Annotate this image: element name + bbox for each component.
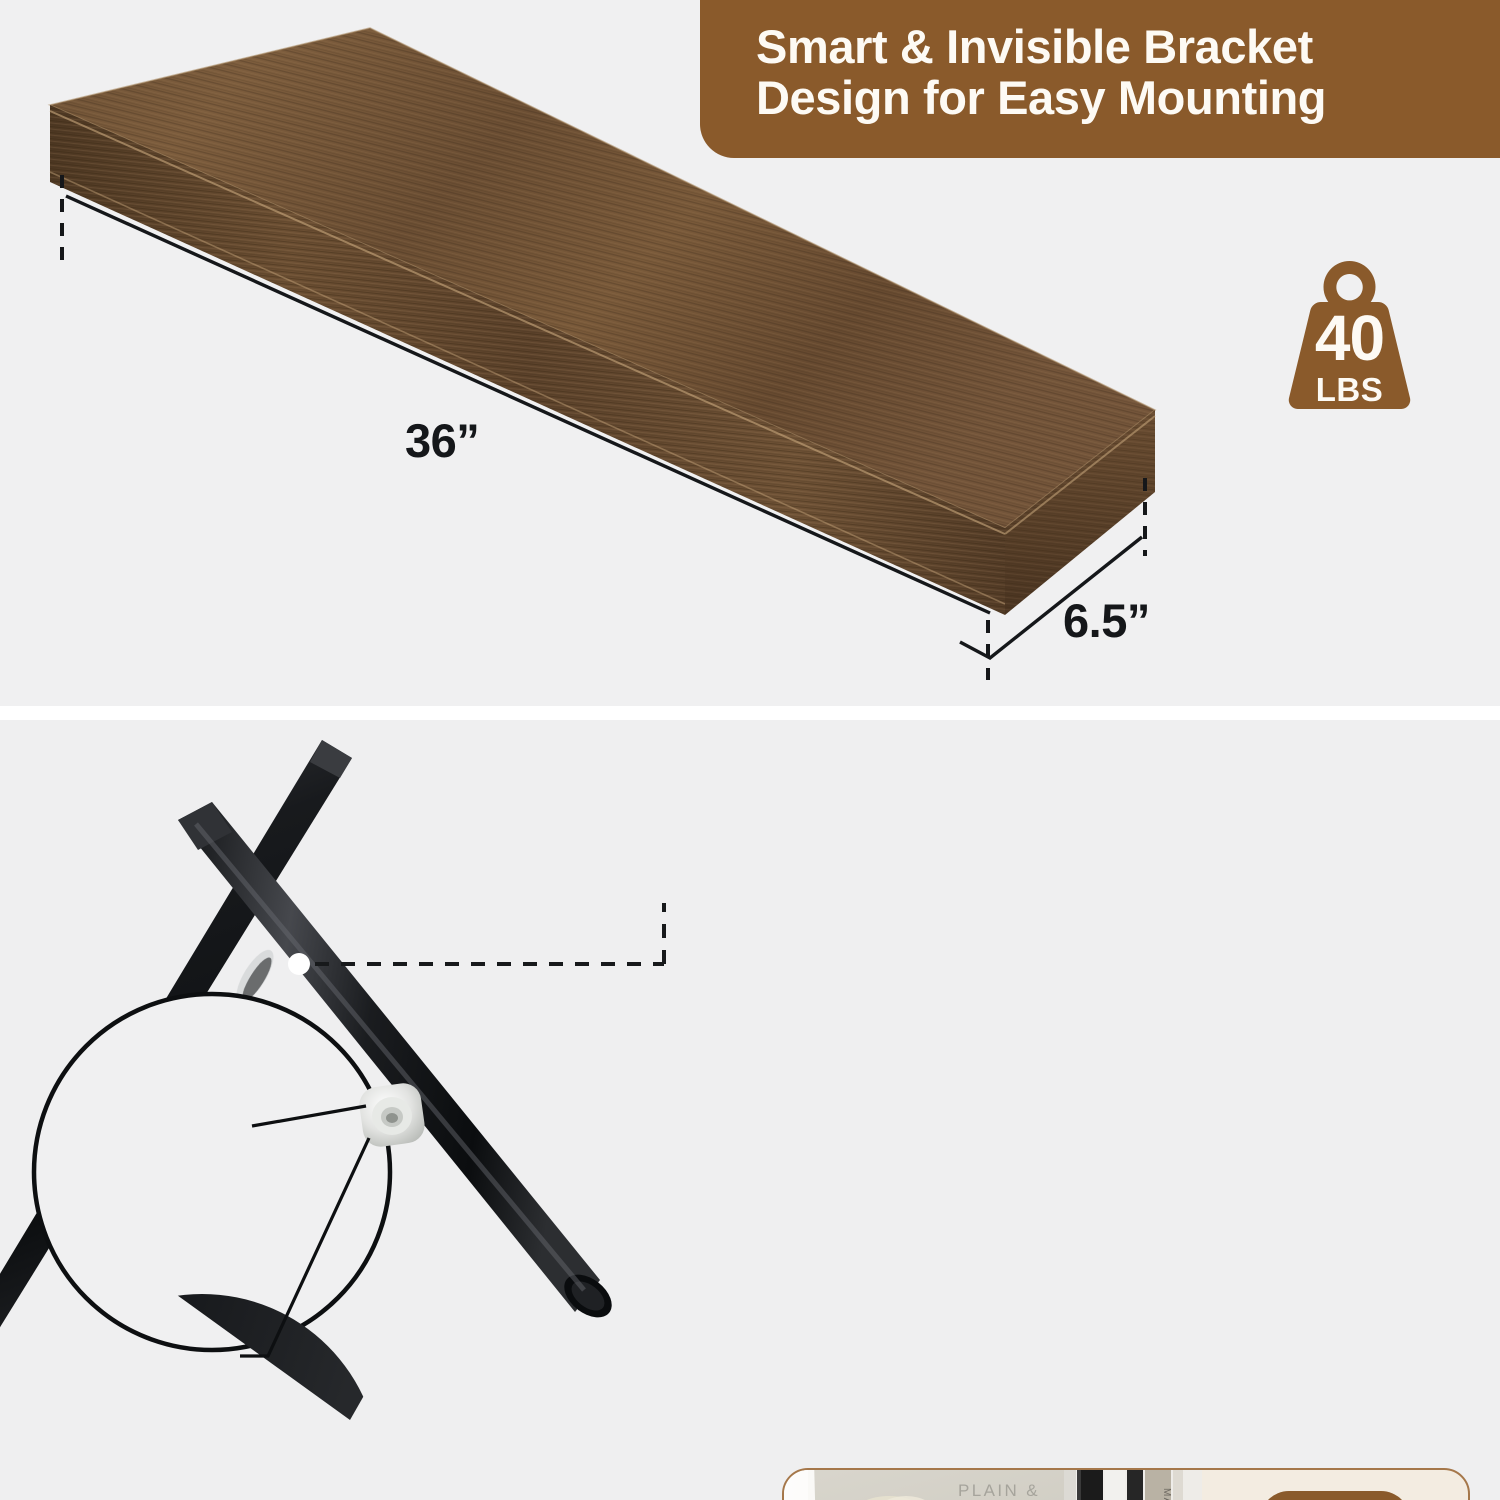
leader-line-military xyxy=(315,903,664,964)
ours-book-title-1: PLAIN & xyxy=(958,1481,1040,1500)
comparison-card-ours: PLAIN & SIMPLE KIM BRENNEMAN NO REST FOR… xyxy=(782,1468,1470,1500)
section-divider xyxy=(0,706,1500,720)
ours-scene: PLAIN & SIMPLE KIM BRENNEMAN NO REST FOR… xyxy=(784,1470,1202,1500)
weight-icon xyxy=(1283,258,1416,418)
bracket-illustration xyxy=(0,720,760,1420)
weight-capacity-badge: 40 LBS xyxy=(1283,258,1416,418)
ours-photo: PLAIN & SIMPLE KIM BRENNEMAN NO REST FOR… xyxy=(784,1470,1202,1500)
dimension-label-length: 36” xyxy=(405,413,479,468)
features-section: Made of Military Grade Iron Unique Rubbe… xyxy=(0,720,1500,1500)
hero-section: 36” 6.5” Smart & Invisible Bracket Desig… xyxy=(0,0,1500,706)
rod-hole xyxy=(288,953,310,975)
magnifier-callout xyxy=(0,994,430,1420)
product-infographic: 36” 6.5” Smart & Invisible Bracket Desig… xyxy=(0,0,1500,1500)
header-banner: Smart & Invisible Bracket Design for Eas… xyxy=(700,0,1500,158)
ours-spine-text-2: MANAGEMENT PLAIN & SIMPLE xyxy=(1161,1488,1172,1500)
ours-pill-badge: Ours xyxy=(1260,1491,1410,1500)
header-title-line1: Smart & Invisible Bracket xyxy=(756,22,1464,73)
header-title-line2: Design for Easy Mounting xyxy=(756,73,1464,124)
ours-info: Ours DEEPER & THICKER Create more storag… xyxy=(1202,1470,1468,1500)
dimension-label-depth: 6.5” xyxy=(1063,593,1150,648)
